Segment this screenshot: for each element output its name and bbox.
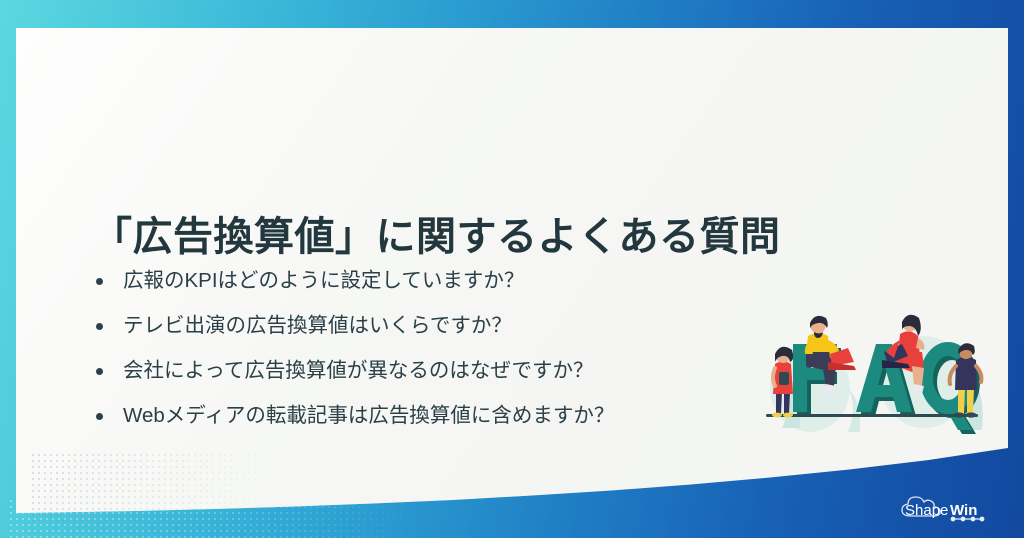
faq-question-list: 広報のKPIはどのように設定していますか？ テレビ出演の広告換算値はいくらですか… — [92, 264, 732, 444]
faq-list-item: 広報のKPIはどのように設定していますか？ — [92, 264, 732, 309]
faq-illustration — [752, 296, 990, 444]
logo-text-win: Win — [950, 502, 977, 519]
faq-list-item: 会社によって広告換算値が異なるのはなぜですか？ — [92, 354, 732, 399]
page-title: 「広告換算値」に関するよくある質問 — [92, 204, 781, 262]
logo-text-shape: Shape — [905, 502, 948, 519]
faq-list-item: テレビ出演の広告換算値はいくらですか？ — [92, 309, 732, 354]
ground-line — [766, 414, 978, 417]
shapewin-logo: Shape Win — [893, 494, 991, 528]
slide-canvas: 「広告換算値」に関するよくある質問 広報のKPIはどのように設定していますか？ … — [0, 0, 1024, 538]
faq-list-item: Webメディアの転載記事は広告換算値に含めますか？ — [92, 399, 732, 444]
